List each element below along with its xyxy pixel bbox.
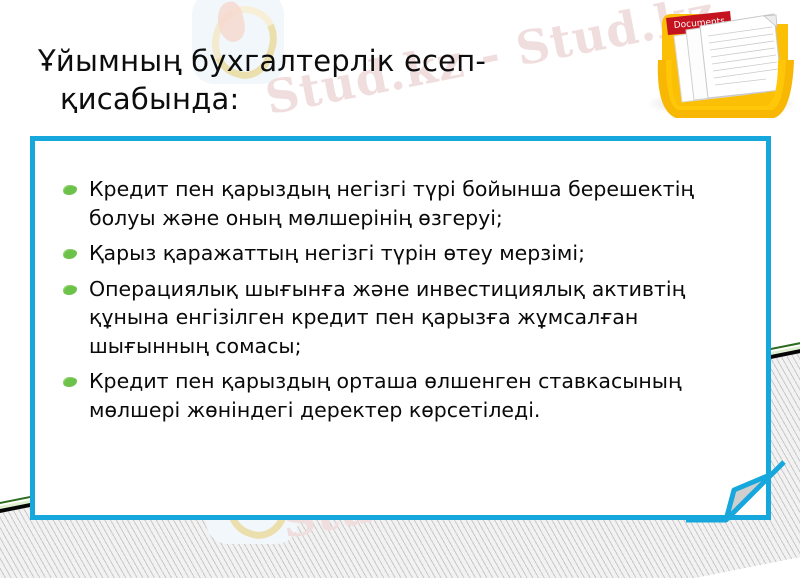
list-item: Операциялық шығынға және инвестициялық а… [61,275,750,361]
bullet-list: Кредит пен қарыздың негізгі түрі бойынша… [35,141,766,424]
slide-title: Ұйымның бухгалтерлік есеп- қисабында: [38,42,648,118]
documents-folder-icon: Documents [646,2,798,130]
title-line-2: қисабында: [38,80,648,118]
list-item-text: Операциялық шығынға және инвестициялық а… [89,277,685,358]
title-line-1: Ұйымның бухгалтерлік есеп- [38,44,486,78]
content-box: Кредит пен қарыздың негізгі түрі бойынша… [30,136,771,520]
list-item-text: Қарыз қаражаттың негізгі түрін өтеу мерз… [89,241,585,265]
bullet-blob-icon [63,249,77,259]
slide-canvas: Stud.kz - Stud.kz Stud.kz - Stud.kz Stud… [0,0,800,578]
list-item: Кредит пен қарыздың негізгі түрі бойынша… [61,175,750,232]
bullet-blob-icon [63,377,77,387]
list-item-text: Кредит пен қарыздың орташа өлшенген став… [89,369,682,422]
list-item: Кредит пен қарыздың орташа өлшенген став… [61,367,750,424]
list-item-text: Кредит пен қарыздың негізгі түрі бойынша… [89,177,694,230]
list-item: Қарыз қаражаттың негізгі түрін өтеу мерз… [61,239,750,268]
bullet-blob-icon [63,185,77,195]
bullet-blob-icon [63,285,77,295]
